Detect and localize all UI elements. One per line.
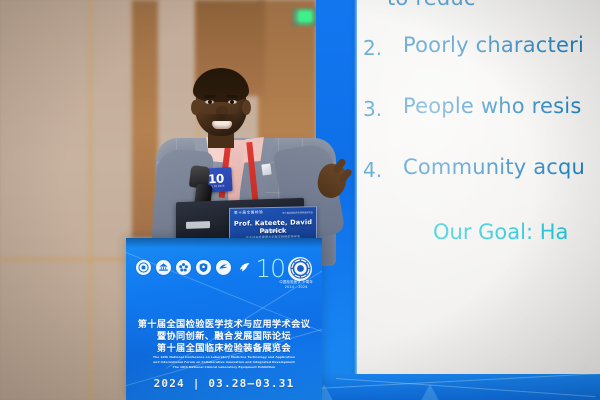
- podium-date: 2024 | 03.28—03.31: [126, 377, 322, 390]
- slide-item-4-number: 4.: [363, 158, 382, 182]
- name-card-header-left: 第十届全国检验: [234, 210, 263, 216]
- stage-backdrop-bottom: [316, 374, 600, 400]
- anniversary-number: 10: [255, 256, 285, 281]
- exit-sign: [292, 8, 318, 26]
- logo-wing-icon: [236, 260, 251, 275]
- anniversary-caption-line2: 2014 - 2024: [279, 285, 313, 290]
- logo-institute-icon: [156, 260, 171, 275]
- slide-partial-top-line: to reduc: [387, 0, 476, 10]
- podium-logo-row: [136, 260, 251, 275]
- podium-top-shadow: [126, 238, 322, 248]
- podium: 10: [126, 238, 322, 400]
- slide-goal-line: Our Goal: Ha: [433, 220, 568, 244]
- slide-item-2-number: 2.: [363, 36, 382, 60]
- microphone-flag-number: 10: [208, 172, 224, 185]
- backdrop-shape-2: [416, 384, 444, 400]
- podium-title-cn-3: 第十届全国临床检验装备展览会: [126, 340, 322, 354]
- name-card-header-right: 第十届全国临床检验装备展览会: [282, 210, 313, 215]
- anniversary-caption-line1: 中国检验医学 十周年: [279, 280, 313, 285]
- slide-item-3-text: People who resis: [403, 94, 581, 118]
- anniversary-seal-icon: [288, 257, 312, 281]
- wall-trim-vertical-1: [88, 0, 93, 400]
- logo-flower-emblem-icon: [176, 260, 191, 275]
- exit-sign-glyph-icon: [298, 11, 312, 22]
- speaker-mouth: [212, 121, 232, 129]
- laptop-sticker: [186, 221, 210, 229]
- podium-anniversary-logo: 10: [255, 256, 312, 281]
- logo-swirl-icon: [216, 260, 231, 275]
- conference-photo: to reduc 2. Poorly characteri 3. People …: [0, 0, 600, 400]
- speaker-hair: [193, 68, 249, 102]
- anniversary-caption: 中国检验医学 十周年 2014 - 2024: [279, 280, 313, 289]
- speaker-pupil-left: [208, 100, 212, 104]
- speaker-ear-left: [191, 100, 200, 115]
- podium-title-en-2: and International Forum on Collaborative…: [126, 360, 322, 365]
- badge-pin: [261, 163, 271, 175]
- speaker-pupil-right: [230, 100, 234, 104]
- podium-title-en-3: The 10th National Clinical Laboratory Eq…: [126, 365, 322, 370]
- speaker-ear-right: [242, 100, 251, 115]
- podium-title-en-1: The 10th National Conference on Laborato…: [126, 355, 322, 360]
- slide-item-4-text: Community acqu: [403, 155, 585, 179]
- slide-item-2-text: Poorly characteri: [403, 33, 584, 57]
- logo-shield-icon: [196, 260, 211, 275]
- logo-medical-cross-icon: [136, 260, 151, 275]
- slide-item-3-number: 3.: [363, 97, 382, 121]
- projection-screen: to reduc 2. Poorly characteri 3. People …: [357, 0, 600, 377]
